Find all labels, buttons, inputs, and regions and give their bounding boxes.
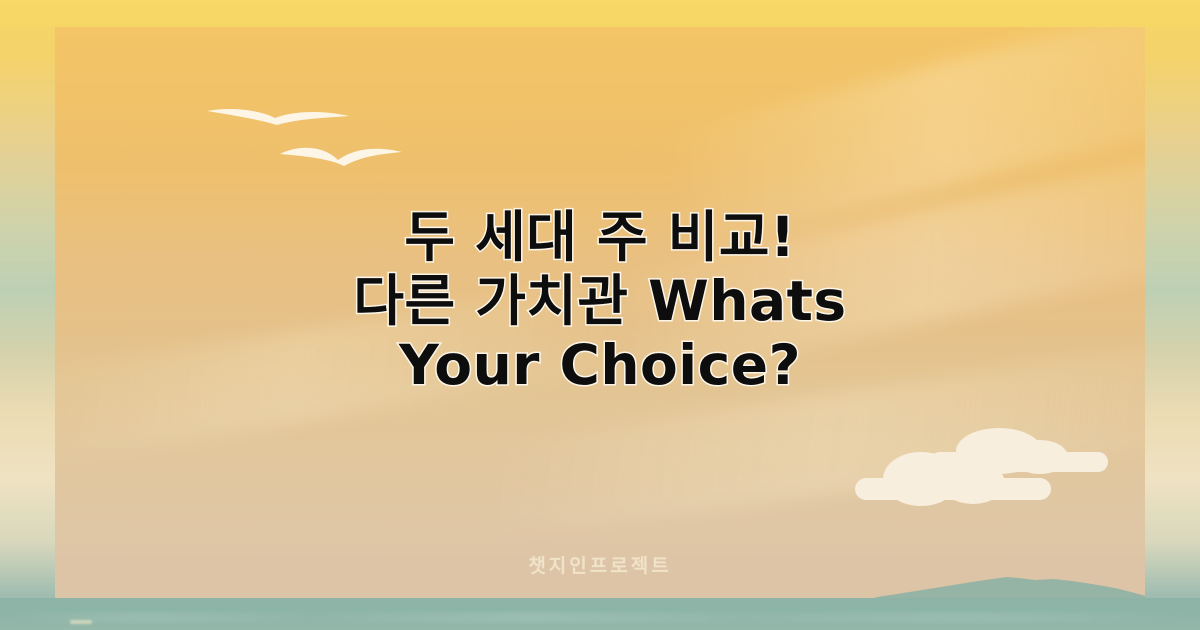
sky-haze-streak	[611, 130, 1145, 383]
ocean-shimmer	[0, 612, 1200, 622]
ocean-sparkle	[70, 620, 92, 624]
ocean-band	[0, 598, 1200, 630]
distant-island	[867, 570, 1145, 600]
top-color-band	[0, 0, 1200, 27]
sky-background	[55, 27, 1145, 630]
banner-canvas: 두 세대 주 비교! 다른 가치관 Whats Your Choice? 챗지인…	[0, 0, 1200, 630]
sky-haze-streak	[482, 333, 1145, 541]
sky-haze-streak	[669, 27, 1145, 248]
sky-haze-streak	[55, 279, 638, 465]
